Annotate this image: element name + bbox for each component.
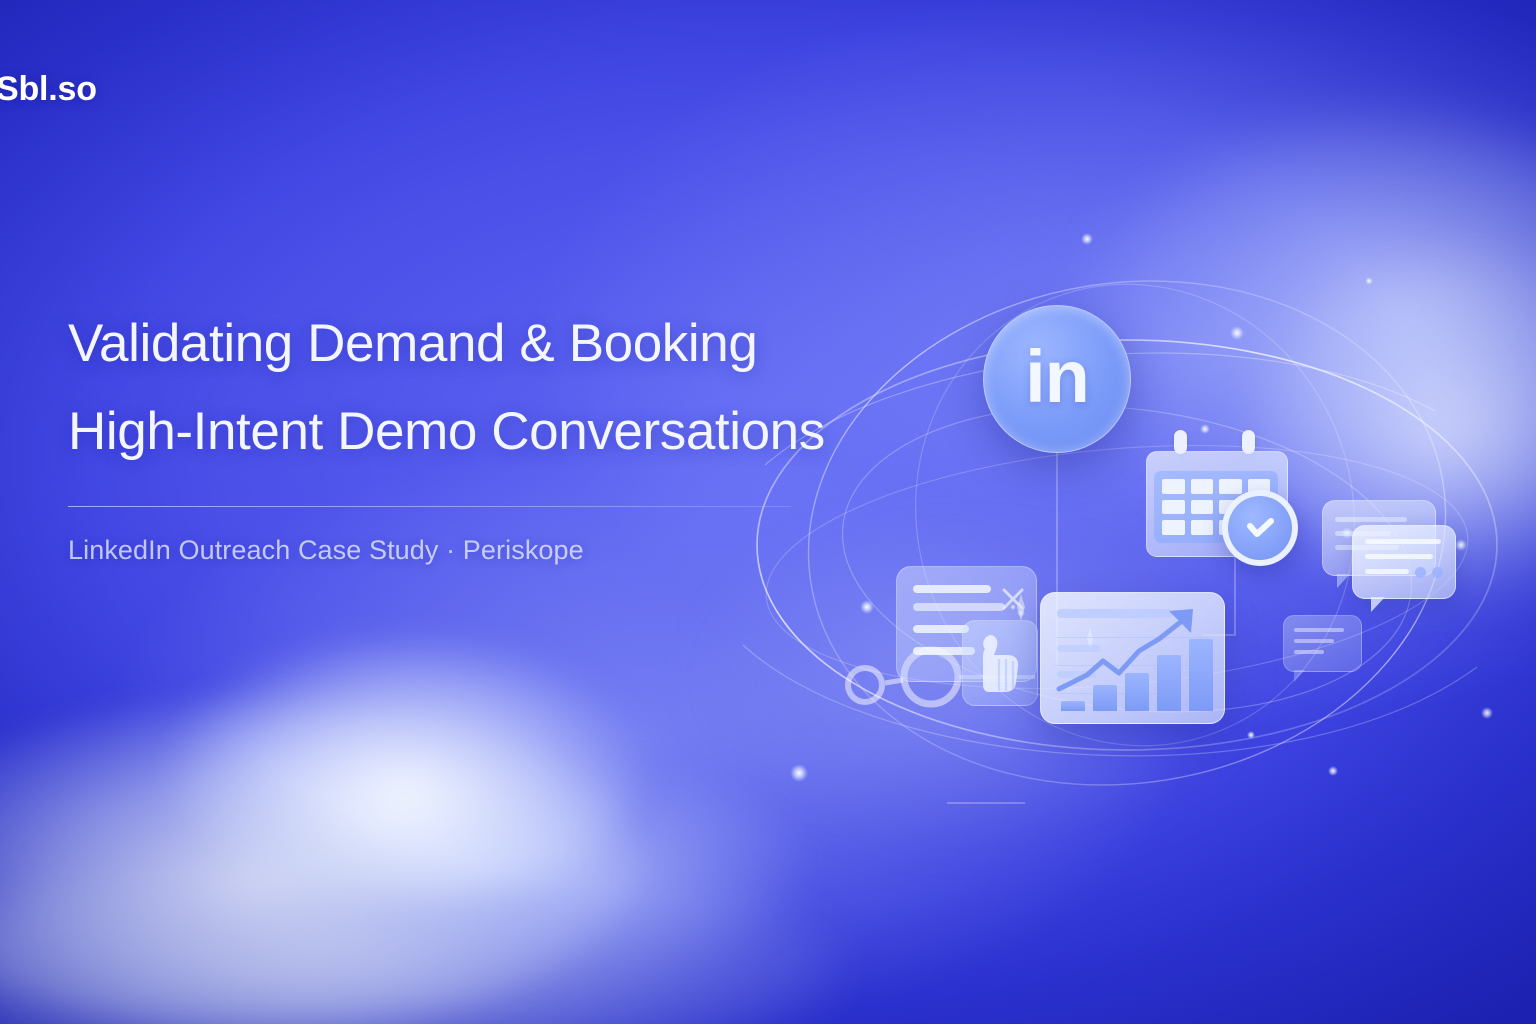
chat-dot (1415, 567, 1426, 578)
close-x-icon (1000, 586, 1026, 612)
brand-logo[interactable]: Sbl.so (0, 72, 97, 106)
page-title-line-1: Validating Demand & Booking (68, 300, 948, 388)
cloud-bottom-left-3 (0, 840, 840, 1024)
slide-canvas: in (0, 0, 1536, 1024)
cloud-bottom-left-1 (0, 700, 640, 1024)
calendar-cell (1219, 479, 1242, 494)
calendar-cell (1191, 479, 1214, 494)
headline-block: Validating Demand & Booking High-Intent … (68, 300, 948, 566)
growth-chart-icon (1040, 592, 1225, 724)
title-divider (68, 506, 791, 507)
linkedin-in-mark: in (1025, 340, 1089, 414)
page-subtitle: LinkedIn Outreach Case Study · Periskope (68, 535, 948, 566)
thumbs-up-icon (962, 620, 1038, 706)
chat-dot (1432, 567, 1443, 578)
calendar-cell (1191, 500, 1214, 515)
chat-bubble-small-icon (1283, 615, 1362, 672)
calendar-cell (1162, 500, 1185, 515)
calendar-cell (1191, 520, 1214, 535)
chat-bubble-front-icon (1352, 525, 1456, 599)
linkedin-icon: in (983, 305, 1131, 453)
check-circle-icon (1222, 490, 1298, 566)
calendar-cell (1162, 479, 1185, 494)
calendar-cell (1162, 520, 1185, 535)
cloud-bottom-left-2 (170, 640, 640, 900)
page-title-line-2: High-Intent Demo Conversations (68, 388, 948, 476)
